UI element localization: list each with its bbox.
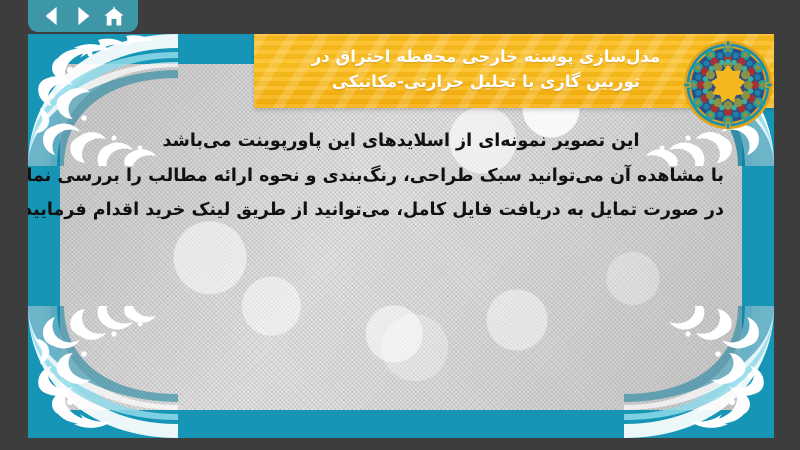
- slide-body-text: این تصویر نمونه‌ای از اسلایدهای این پاور…: [78, 124, 724, 228]
- persian-medallion-ornament: [683, 36, 773, 134]
- triangle-right-icon[interactable]: بعدی: [72, 5, 94, 27]
- slide-frame: مدل‌سازی پوسته خارجی محفظه احتراق در تور…: [28, 34, 774, 438]
- slide-title-line-1: مدل‌سازی پوسته خارجی محفظه احتراق در: [312, 44, 661, 69]
- presentation-viewer: قبلی بعدی خانه: [0, 0, 800, 450]
- body-line-3: در صورت تمایل به دریافت فایل کامل، می‌تو…: [78, 193, 724, 228]
- slide-content-canvas: [60, 64, 742, 410]
- body-line-2: با مشاهده آن می‌توانید سبک طراحی، رنگ‌بن…: [78, 159, 724, 194]
- home-icon[interactable]: خانه: [103, 5, 125, 27]
- slide-navigation-bar: قبلی بعدی خانه: [28, 0, 138, 32]
- body-line-1: این تصویر نمونه‌ای از اسلایدهای این پاور…: [78, 124, 724, 159]
- triangle-left-icon[interactable]: قبلی: [41, 5, 63, 27]
- slide-title-line-2: توربین گازی با تحلیل حرارتی-مکانیکی: [332, 69, 640, 94]
